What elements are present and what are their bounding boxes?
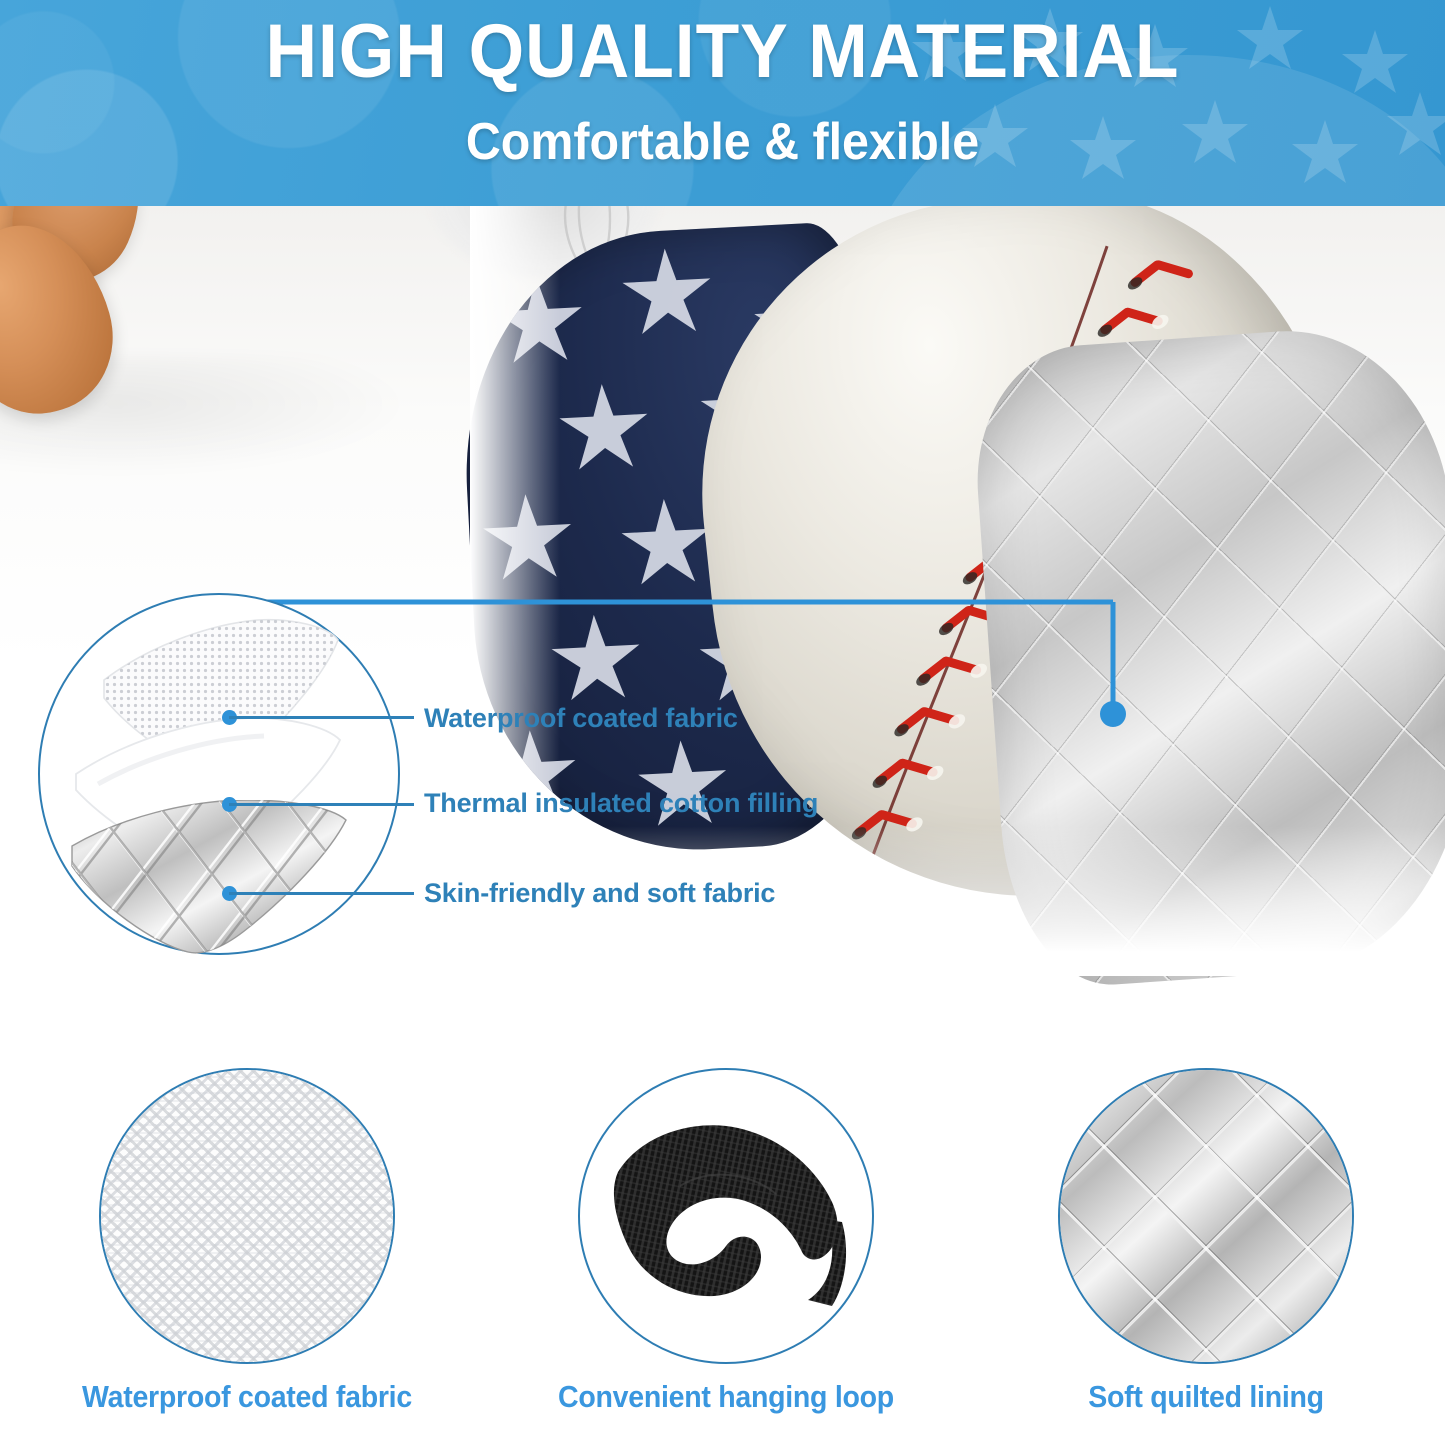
- oven-mitt-photo: [470, 206, 1445, 976]
- feature-caption-soft-quilted-lining: Soft quilted lining: [994, 1379, 1417, 1415]
- layer-line-3: [229, 892, 414, 895]
- layer-label-skin-friendly-and-soft-fabric: Skin-friendly and soft fabric: [424, 878, 775, 909]
- page-subtitle: Comfortable & flexible: [51, 116, 1395, 168]
- feature-circle-soft-quilted-lining: [1058, 1068, 1354, 1364]
- product-infographic: HIGH QUALITY MATERIAL Comfortable & flex…: [0, 0, 1445, 1429]
- black-webbing-loop-icon: [580, 1070, 872, 1362]
- feature-circle-convenient-hanging-loop: [578, 1068, 874, 1364]
- layer-skin-friendly-soft-fabric-swatch: [58, 800, 354, 960]
- layer-line-1: [229, 716, 414, 719]
- white-woven-fabric-texture: [99, 1068, 395, 1364]
- page-title: HIGH QUALITY MATERIAL: [43, 14, 1401, 90]
- quilted-diamond-grid: [1058, 1068, 1354, 1364]
- layer-label-waterproof-coated-fabric: Waterproof coated fabric: [424, 703, 738, 734]
- layer-label-thermal-insulated-cotton-filling: Thermal insulated cotton filling: [424, 788, 818, 819]
- feature-caption-waterproof-coated-fabric: Waterproof coated fabric: [35, 1379, 458, 1415]
- feature-caption-convenient-hanging-loop: Convenient hanging loop: [514, 1379, 937, 1415]
- feature-circle-waterproof-coated-fabric: [99, 1068, 395, 1364]
- header-banner: HIGH QUALITY MATERIAL Comfortable & flex…: [0, 0, 1445, 206]
- layer-line-2: [229, 803, 414, 806]
